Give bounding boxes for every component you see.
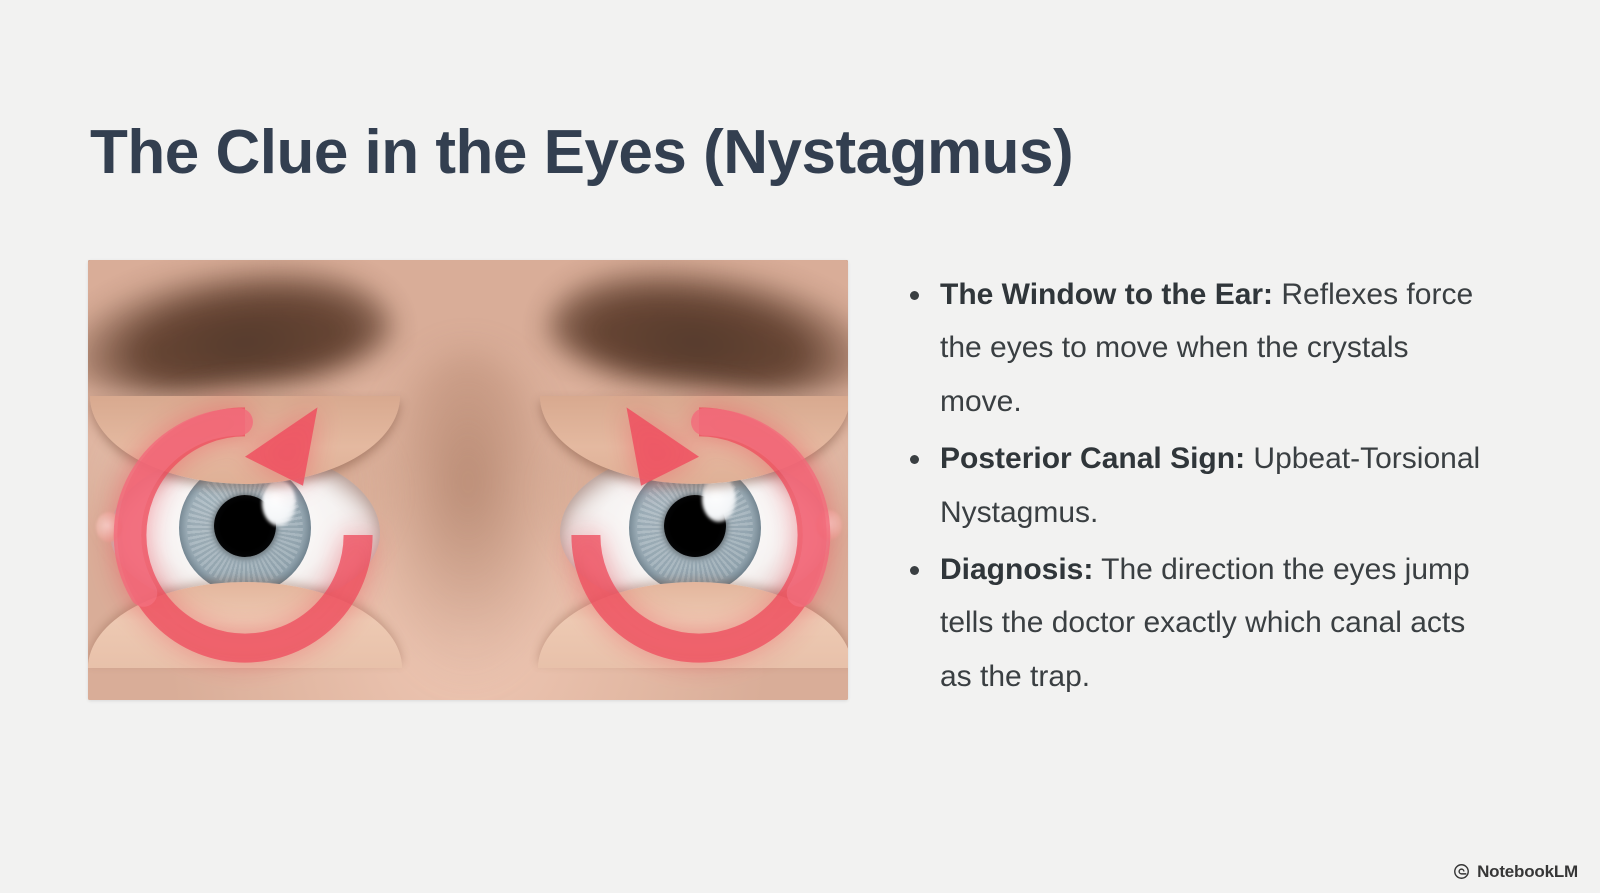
bullet-dot-icon [910, 566, 919, 575]
rotation-arrow-right-icon [554, 390, 844, 680]
list-item: Posterior Canal Sign: Upbeat-Torsional N… [902, 432, 1482, 539]
notebooklm-spiral-icon [1452, 862, 1471, 881]
bullet-dot-icon [910, 455, 919, 464]
slide-root: The Clue in the Eyes (Nystagmus) [0, 0, 1600, 893]
list-item: The Window to the Ear: Reflexes force th… [902, 268, 1482, 428]
rotation-arrow-left-icon [100, 390, 390, 680]
bullet-lead: Diagnosis: [940, 553, 1093, 586]
bullet-list: The Window to the Ear: Reflexes force th… [902, 268, 1482, 707]
page-title: The Clue in the Eyes (Nystagmus) [90, 120, 1510, 187]
notebooklm-label: NotebookLM [1477, 863, 1578, 880]
eye-scene-background [88, 260, 848, 700]
bullet-lead: Posterior Canal Sign: [940, 442, 1245, 475]
bullet-dot-icon [910, 291, 919, 300]
list-item: Diagnosis: The direction the eyes jump t… [902, 543, 1482, 703]
eyes-illustration [88, 260, 848, 700]
bullet-lead: The Window to the Ear: [940, 278, 1273, 311]
nose-bridge-shadow [373, 350, 563, 680]
notebooklm-watermark: NotebookLM [1452, 862, 1578, 881]
